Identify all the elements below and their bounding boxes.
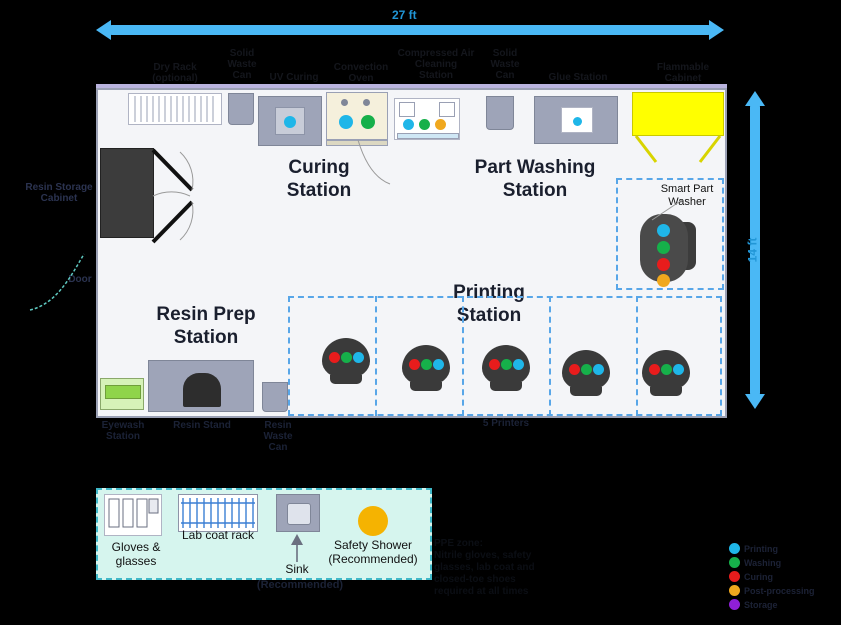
oven-knob-icon	[341, 99, 348, 106]
legend-label-storage: Storage	[744, 600, 778, 610]
legend-item-printing: Printing	[729, 543, 839, 554]
dry-rack-bars	[129, 94, 221, 124]
legend-label-curing: Curing	[744, 572, 773, 582]
label-safety-shower: Safety Shower (Recommended)	[324, 538, 422, 566]
label-solid-waste-can-right: Solid Waste Can	[484, 48, 526, 81]
part-washing-station-title: Part Washing Station	[460, 156, 610, 202]
solid-waste-can-left	[228, 93, 254, 125]
printing-bay-divider-4	[636, 296, 638, 416]
printer-dot-blue-icon	[353, 352, 364, 363]
label-flammable-cabinet: Flammable Cabinet	[646, 62, 720, 84]
compressed-air-cleaning-station	[394, 98, 460, 140]
sink-basin-icon	[287, 503, 311, 525]
printer-dot-green-icon	[341, 352, 352, 363]
printer-base	[330, 375, 362, 384]
resin-storage-cabinet	[100, 148, 154, 238]
printer-dot-red-icon	[569, 364, 580, 375]
legend-dot-storage-icon	[729, 599, 740, 610]
uv-curing-indicator-icon	[284, 116, 296, 128]
legend-label-printing: Printing	[744, 544, 778, 554]
gloves-and-glasses-cabinet	[104, 494, 162, 536]
air-tray-icon	[397, 133, 459, 139]
door-leader-line	[26, 248, 136, 314]
air-dot-blue-icon	[403, 119, 414, 130]
floor-plan-diagram: 27 ft 14 ft Dry Rack (optional) Solid Wa…	[0, 0, 841, 625]
dry-rack	[128, 93, 222, 125]
printing-bay-divider-3	[549, 296, 551, 416]
legend-label-washing: Washing	[744, 558, 781, 568]
lab-coat-rack	[178, 494, 258, 532]
washer-leader-line	[648, 196, 698, 222]
legend-dot-post-processing-icon	[729, 585, 740, 596]
resin-stand	[148, 360, 254, 412]
printer-dot-red-icon	[409, 359, 420, 370]
label-compressed-air-cleaning: Compressed Air Cleaning Station	[392, 48, 480, 81]
label-dry-rack: Dry Rack (optional)	[138, 62, 212, 84]
legend-item-storage: Storage	[729, 599, 839, 610]
legend: Printing Washing Curing Post-processing …	[729, 543, 839, 613]
label-glue-station: Glue Station	[540, 72, 616, 83]
safety-shower-head-icon	[358, 506, 388, 536]
flammable-cabinet	[632, 92, 724, 136]
label-printer-bays: 5 Printers	[452, 418, 560, 429]
washer-dot-green-icon	[657, 241, 670, 254]
printer-base	[570, 387, 602, 396]
label-solid-waste-can-left: Solid Waste Can	[221, 48, 263, 81]
printing-bay-divider-2	[462, 296, 464, 416]
label-sink: Sink	[276, 562, 318, 576]
label-gloves-and-glasses: Gloves & glasses	[100, 540, 172, 568]
solid-waste-can-right	[486, 96, 514, 130]
printer-dot-blue-icon	[433, 359, 444, 370]
height-dimension-label: 14 ft	[745, 238, 759, 263]
printer-base	[410, 382, 442, 391]
ppe-note: PPE zone: Nitrile gloves, safety glasses…	[434, 538, 630, 598]
label-lab-coat-rack: Lab coat rack	[172, 528, 264, 542]
oven-indicator-green-icon	[361, 115, 375, 129]
printer-4	[562, 350, 610, 396]
label-resin-storage-cabinet: Resin Storage Cabinet	[14, 182, 104, 204]
convection-oven	[326, 92, 388, 140]
gloves-bins-icon	[105, 495, 161, 535]
label-resin-stand: Resin Stand	[162, 420, 242, 431]
legend-dot-washing-icon	[729, 557, 740, 568]
lab-coat-rack-bars-icon	[179, 495, 257, 531]
printer-1	[322, 338, 370, 384]
printer-dot-red-icon	[329, 352, 340, 363]
printer-dot-blue-icon	[513, 359, 524, 370]
washer-dot-red-icon	[657, 258, 670, 271]
sink	[276, 494, 320, 532]
printer-dot-green-icon	[421, 359, 432, 370]
printer-base	[650, 387, 682, 396]
printer-3	[482, 345, 530, 391]
printing-bay-divider-1	[375, 296, 377, 416]
legend-item-curing: Curing	[729, 571, 839, 582]
eyewash-basin-icon	[105, 385, 141, 399]
sink-arrow-icon	[286, 534, 308, 562]
air-panel-icon	[399, 102, 415, 117]
air-dot-green-icon	[419, 119, 430, 130]
legend-item-post-processing: Post-processing	[729, 585, 839, 596]
curing-leader-line	[330, 138, 396, 186]
printer-dot-red-icon	[649, 364, 660, 375]
resin-stand-vat-icon	[183, 373, 221, 407]
width-dimension-label: 27 ft	[392, 8, 417, 22]
uv-curing-unit	[258, 96, 322, 146]
glue-indicator-icon	[573, 117, 582, 126]
printer-2	[402, 345, 450, 391]
label-eyewash-station: Eyewash Station	[90, 420, 156, 442]
air-panel-icon	[439, 102, 455, 117]
oven-indicator-blue-icon	[339, 115, 353, 129]
width-dimension-arrow	[110, 25, 710, 35]
printer-5	[642, 350, 690, 396]
legend-label-post-processing: Post-processing	[744, 586, 815, 596]
eyewash-station	[100, 378, 144, 410]
printer-base	[490, 382, 522, 391]
printer-dot-green-icon	[661, 364, 672, 375]
washer-dot-orange-icon	[657, 274, 670, 287]
printer-dot-red-icon	[489, 359, 500, 370]
legend-dot-printing-icon	[729, 543, 740, 554]
printer-dot-blue-icon	[673, 364, 684, 375]
label-convection-oven: Convection Oven	[328, 62, 394, 84]
legend-item-washing: Washing	[729, 557, 839, 568]
label-resin-waste-can: Resin Waste Can	[256, 420, 300, 453]
glue-station	[534, 96, 618, 144]
resin-waste-can	[262, 382, 288, 412]
legend-dot-curing-icon	[729, 571, 740, 582]
air-dot-orange-icon	[435, 119, 446, 130]
printer-dot-green-icon	[501, 359, 512, 370]
oven-knob-icon	[363, 99, 370, 106]
washer-dot-blue-icon	[657, 224, 670, 237]
resin-prep-station-title: Resin Prep Station	[142, 303, 270, 349]
glue-station-screen	[561, 107, 593, 133]
safety-zone-caption: (Recommended)	[248, 580, 352, 591]
flammable-cabinet-doors	[632, 136, 724, 164]
label-uv-curing: UV Curing	[266, 72, 322, 83]
smart-part-washer	[636, 212, 708, 284]
printer-dot-blue-icon	[593, 364, 604, 375]
printer-dot-green-icon	[581, 364, 592, 375]
